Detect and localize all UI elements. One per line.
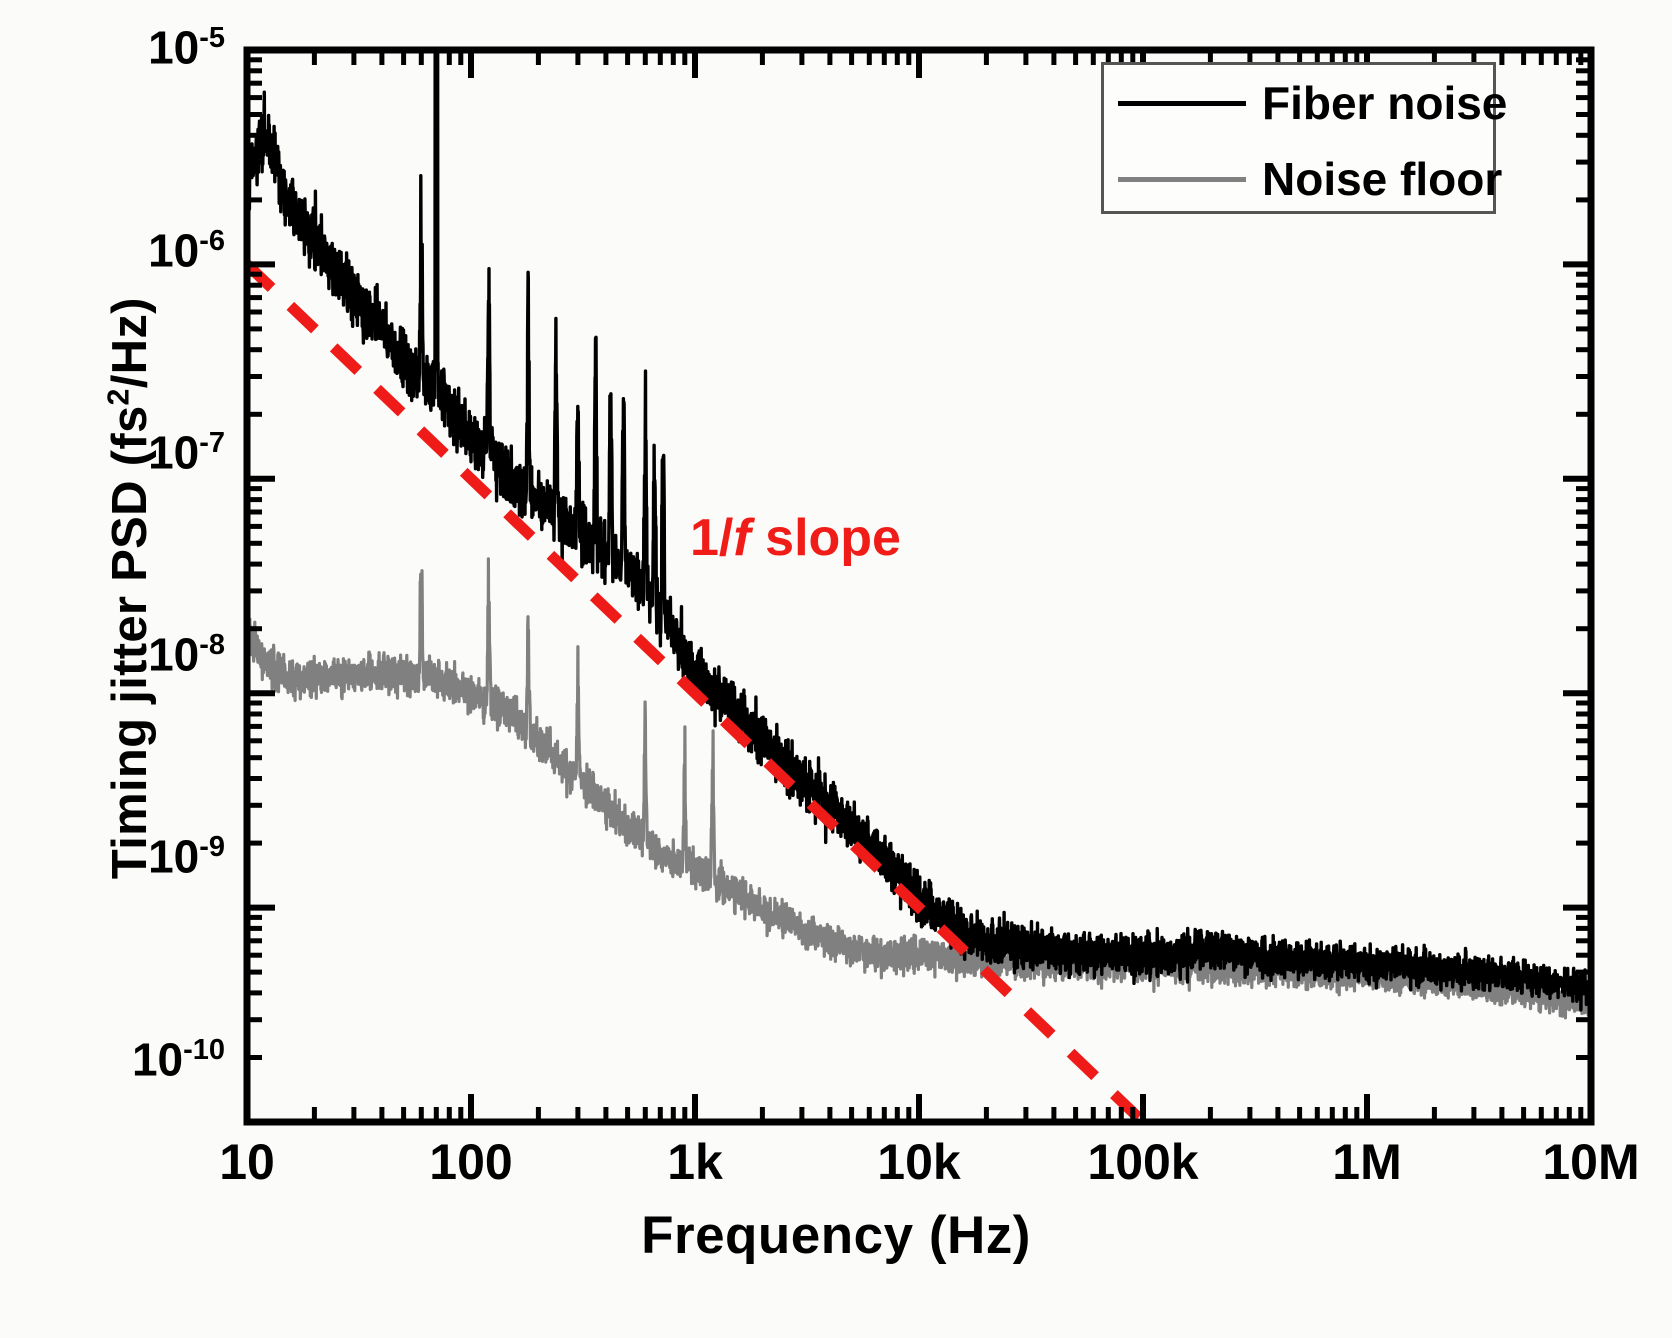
y-axis-title-wrapper: Timing jitter PSD (fs2/Hz) bbox=[102, 118, 158, 1058]
x-axis-title: Frequency (Hz) bbox=[0, 1205, 1672, 1266]
legend-label-noise-floor: Noise floor bbox=[1262, 152, 1502, 206]
y-tick-label: 10-7 bbox=[148, 429, 225, 475]
x-tick-label: 100k bbox=[1087, 1133, 1198, 1191]
legend-entry-fiber-noise[interactable]: Fiber noise bbox=[1104, 65, 1493, 141]
x-tick-label: 1k bbox=[667, 1133, 723, 1191]
y-tick-label: 10-9 bbox=[148, 833, 225, 879]
x-tick-label: 10k bbox=[877, 1133, 960, 1191]
y-axis-title: Timing jitter PSD (fs2/Hz) bbox=[103, 297, 157, 879]
psd-figure: 10-5 10-6 10-7 10-8 10-9 10-10 10 100 1k… bbox=[0, 0, 1672, 1338]
x-tick-label: 10 bbox=[219, 1133, 275, 1191]
y-tick-label: 10-5 bbox=[148, 24, 225, 70]
legend-swatch-noise-floor bbox=[1118, 177, 1246, 182]
y-tick-label: 10-6 bbox=[148, 227, 225, 273]
legend-label-fiber-noise: Fiber noise bbox=[1262, 76, 1507, 130]
legend-entry-noise-floor[interactable]: Noise floor bbox=[1104, 141, 1493, 217]
one-over-f-slope-annotation: 1/f slope bbox=[690, 508, 901, 568]
x-tick-label: 100 bbox=[429, 1133, 512, 1191]
legend-swatch-fiber-noise bbox=[1118, 101, 1246, 106]
x-tick-label: 10M bbox=[1542, 1133, 1639, 1191]
x-tick-label: 1M bbox=[1332, 1133, 1401, 1191]
legend[interactable]: Fiber noise Noise floor bbox=[1101, 62, 1496, 214]
y-tick-label: 10-8 bbox=[148, 631, 225, 677]
